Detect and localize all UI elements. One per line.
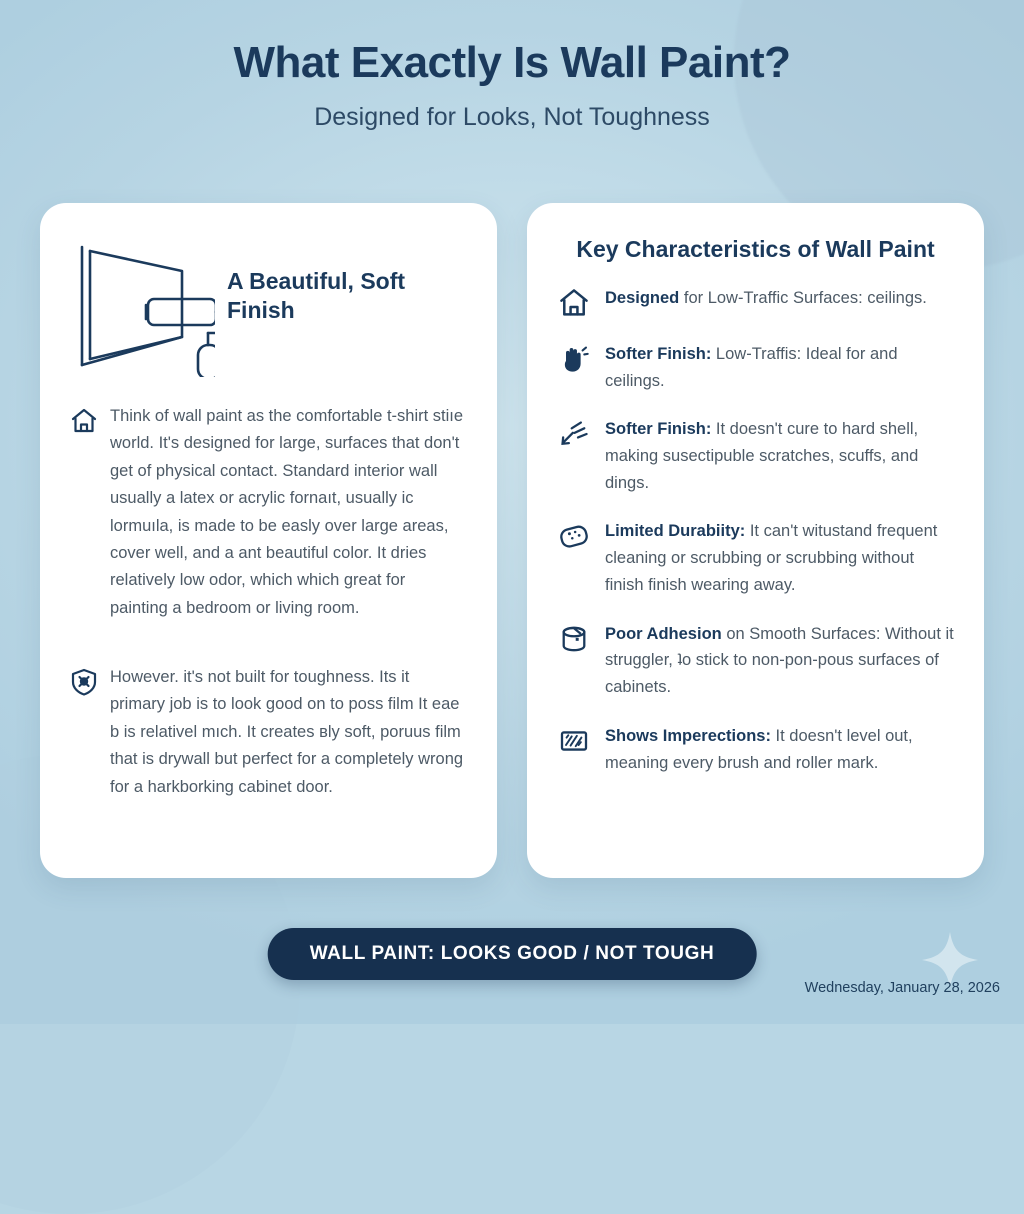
paint-can-icon: [557, 623, 591, 655]
feature-item-designed: Designed for Low-Traffic Surfaces: ceili…: [557, 285, 954, 319]
page-title: What Exactly Is Wall Paint?: [0, 38, 1024, 87]
left-card-paragraph-2-text: However. it's not built for toughness. I…: [110, 664, 467, 801]
right-card: Key Characteristics of Wall Paint Design…: [527, 203, 984, 878]
shield-x-icon: [70, 668, 98, 696]
sponge-icon: [557, 520, 591, 552]
paint-roller-on-wall-illustration: [70, 237, 215, 377]
feature-item-shows-imperfections: Shows Imperections: It doesn't level out…: [557, 723, 954, 776]
left-card-title: A Beautiful, Soft Finish: [227, 267, 467, 325]
hand-touch-icon: [557, 343, 591, 375]
left-card-header: A Beautiful, Soft Finish: [70, 235, 467, 377]
feature-body: for Low-Traffic Surfaces: ceilings.: [679, 289, 927, 307]
feature-item-limited-durability: Limited Durabiity: It can't witustand fr…: [557, 518, 954, 598]
feature-label: Softer Finish:: [605, 420, 711, 438]
feature-text: Shows Imperections: It doesn't level out…: [605, 723, 954, 776]
feature-item-softer-finish-2: Softer Finish: It doesn't cure to hard s…: [557, 416, 954, 496]
feature-label: Shows Imperections:: [605, 727, 771, 745]
feature-item-softer-finish-1: Softer Finish: Low-Traffis: Ideal for an…: [557, 341, 954, 394]
house-icon: [557, 287, 591, 319]
house-icon: [70, 407, 98, 435]
feature-text: Softer Finish: It doesn't cure to hard s…: [605, 416, 954, 496]
left-card-paragraph-1-text: Think of wall paint as the comfortable t…: [110, 403, 467, 622]
footer-banner: WALL PAINT: LOOKS GOOD / NOT TOUGH: [268, 928, 757, 980]
feature-label: Poor Adhesion: [605, 625, 722, 643]
feature-label: Designed: [605, 289, 679, 307]
right-card-title: Key Characteristics of Wall Paint: [557, 235, 954, 265]
feature-label: Limited Durabiity:: [605, 522, 745, 540]
left-card-paragraph-2: However. it's not built for toughness. I…: [70, 664, 467, 801]
page-header: What Exactly Is Wall Paint? Designed for…: [0, 38, 1024, 132]
feature-text: Poor Adhesion on Smooth Surfaces: Withou…: [605, 621, 954, 701]
left-card-paragraph-1: Think of wall paint as the comfortable t…: [70, 403, 467, 622]
feature-text: Limited Durabiity: It can't witustand fr…: [605, 518, 954, 598]
scratch-icon: [557, 418, 591, 450]
cards-container: A Beautiful, Soft Finish Think of wall p…: [40, 203, 984, 878]
feature-text: Softer Finish: Low-Traffis: Ideal for an…: [605, 341, 954, 394]
feature-item-poor-adhesion: Poor Adhesion on Smooth Surfaces: Withou…: [557, 621, 954, 701]
feature-text: Designed for Low-Traffic Surfaces: ceili…: [605, 285, 927, 312]
page-subtitle: Designed for Looks, Not Toughness: [0, 103, 1024, 132]
feature-label: Softer Finish:: [605, 345, 711, 363]
date-stamp: Wednesday, January 28, 2026: [805, 980, 1000, 996]
brush-marks-icon: [557, 725, 591, 757]
left-card: A Beautiful, Soft Finish Think of wall p…: [40, 203, 497, 878]
infographic-page: What Exactly Is Wall Paint? Designed for…: [0, 0, 1024, 1024]
